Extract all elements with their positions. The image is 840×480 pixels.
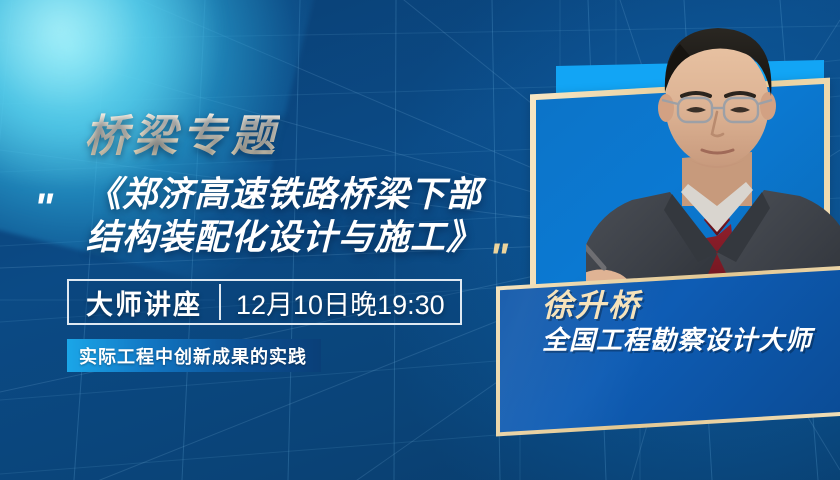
lecture-subtitle-bar: 实际工程中创新成果的实践 [67, 339, 321, 372]
poster-canvas: 徐升桥 全国工程勘察设计大师 桥梁专题 " " 《郑济高速铁路桥梁下部结构装配化… [0, 0, 840, 480]
quote-open-icon: " [34, 196, 51, 220]
lecture-datetime-label: 12月10日晚19:30 [221, 281, 460, 323]
lecture-info-bar: 大师讲座 12月10日晚19:30 [67, 279, 462, 325]
speaker-title: 全国工程勘察设计大师 [542, 325, 838, 356]
page-title: 桥梁专题 [84, 100, 280, 164]
lecture-title: 《郑济高速铁路桥梁下部结构装配化设计与施工》 [86, 174, 506, 259]
speaker-name: 徐升桥 [542, 289, 838, 324]
lecture-category-label: 大师讲座 [69, 281, 219, 323]
nameplate-text: 徐升桥 全国工程勘察设计大师 [542, 289, 838, 355]
speaker-nameplate: 徐升桥 全国工程勘察设计大师 [496, 266, 840, 437]
